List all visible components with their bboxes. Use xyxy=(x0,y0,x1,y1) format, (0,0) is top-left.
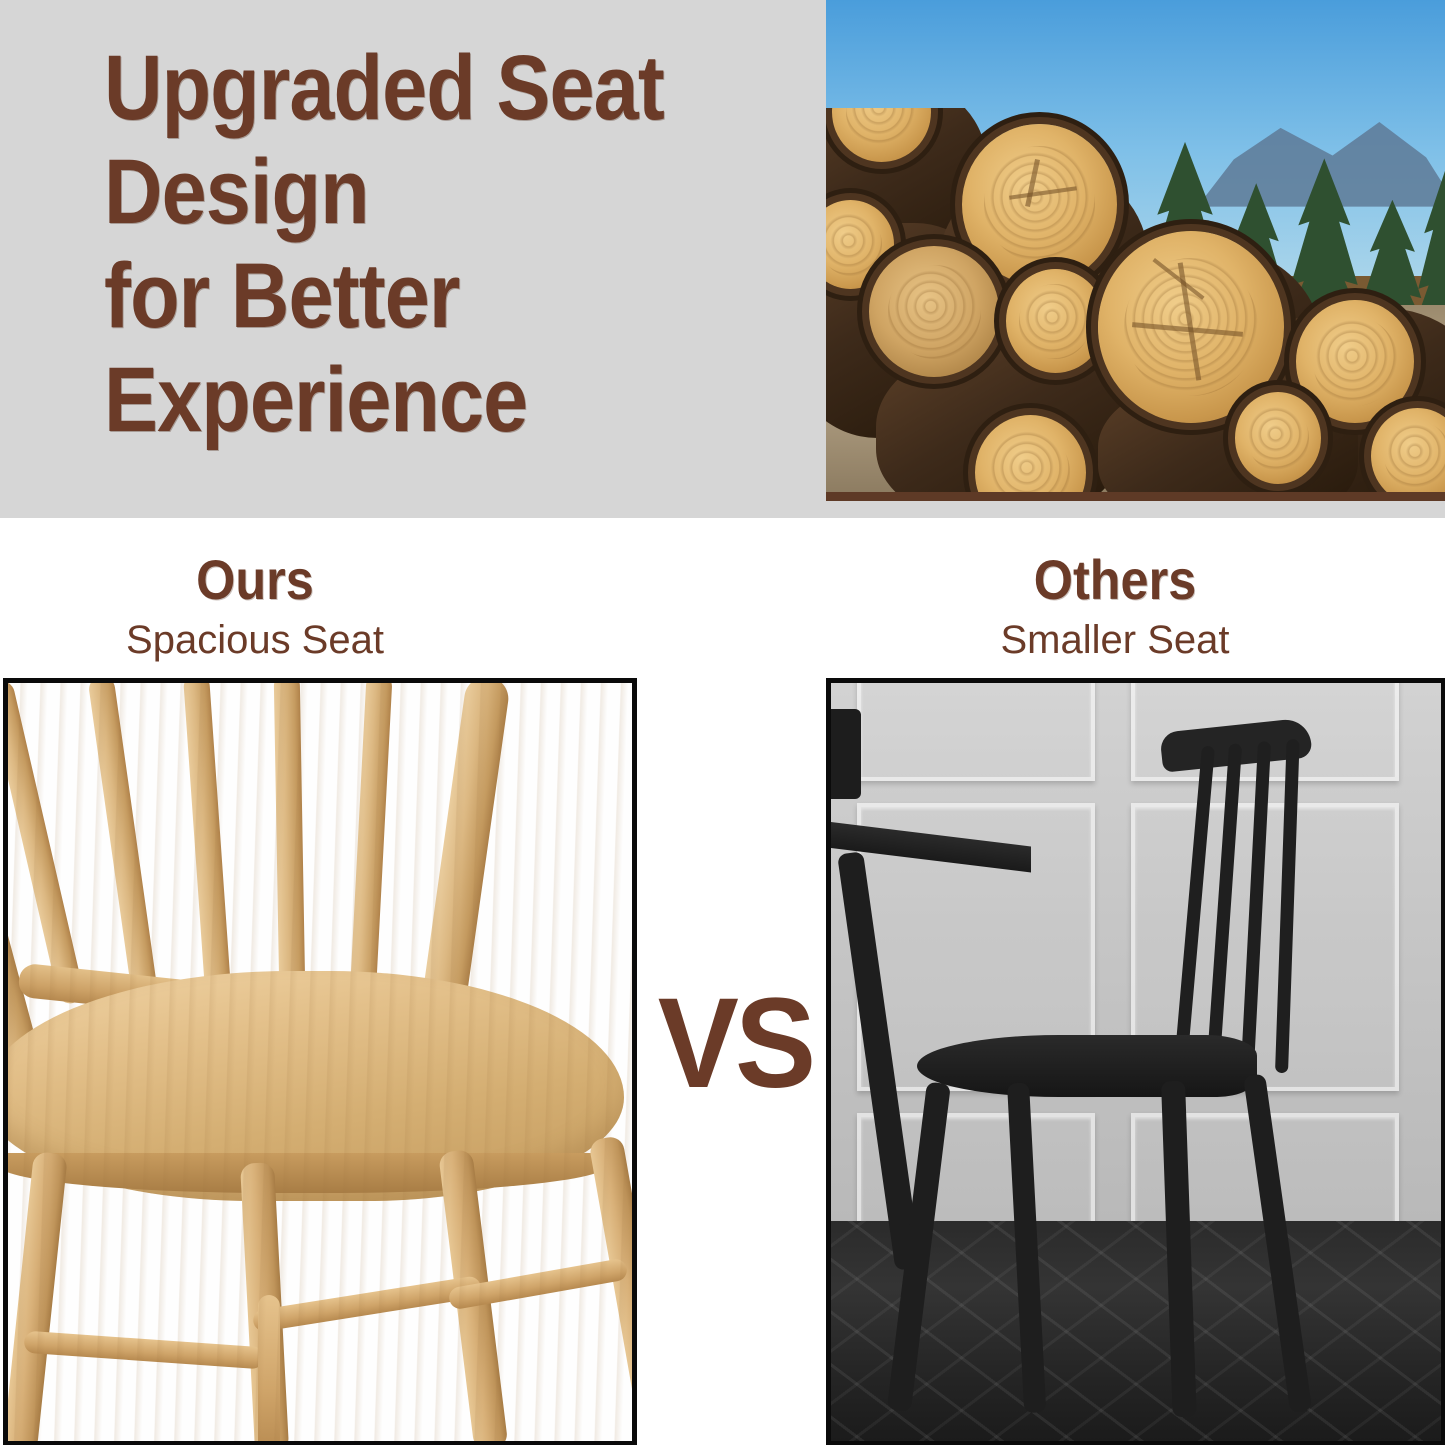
product-comparison-infographic: Upgraded Seat Design for Better Experien… xyxy=(0,0,1445,1445)
logs-photo xyxy=(826,0,1445,492)
table-back-post xyxy=(826,709,861,799)
vs-label: VS xyxy=(645,980,826,1108)
ours-chair-photo xyxy=(3,678,637,1445)
others-subtitle: Smaller Seat xyxy=(915,618,1315,662)
table-leg-back xyxy=(826,852,829,1253)
ours-title: Ours xyxy=(75,552,435,608)
chair-seat xyxy=(917,1035,1257,1097)
page-title: Upgraded Seat Design for Better Experien… xyxy=(104,36,720,452)
log-pile xyxy=(826,108,1445,492)
headline-line-2: Design xyxy=(104,140,720,244)
comparison-section: Ours Spacious Seat Others Smaller Seat xyxy=(0,518,1445,1445)
others-title: Others xyxy=(935,552,1295,608)
headline-line-1: Upgraded Seat xyxy=(104,36,720,140)
others-chair-photo xyxy=(826,678,1445,1445)
ours-subtitle: Spacious Seat xyxy=(55,618,455,662)
photo-underbar xyxy=(826,492,1445,501)
headline-line-4: Experience xyxy=(104,348,720,452)
headline-line-3: for Better xyxy=(104,244,720,348)
wood-chair-scene xyxy=(8,683,632,1441)
black-chair-scene xyxy=(831,683,1441,1441)
